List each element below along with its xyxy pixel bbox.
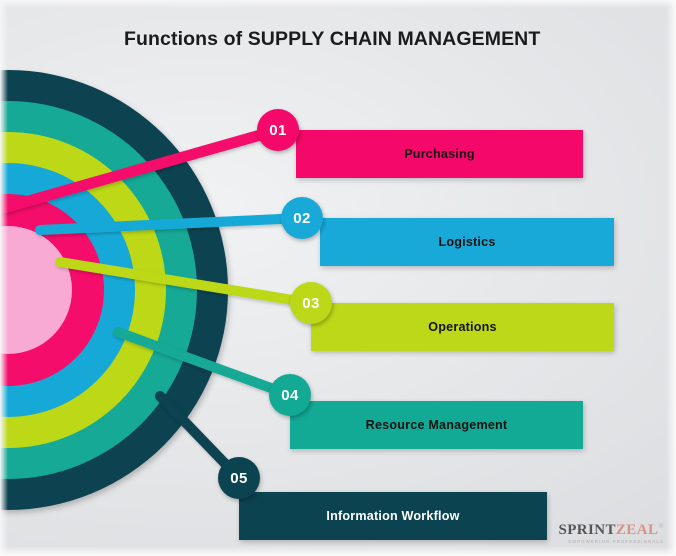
- bar-item-05[interactable]: Information Workflow: [239, 492, 547, 540]
- bar-label-02: Logistics: [438, 235, 495, 249]
- bar-label-01: Purchasing: [404, 147, 475, 161]
- bar-label-04: Resource Management: [366, 418, 508, 432]
- bar-item-03[interactable]: Operations: [311, 303, 614, 351]
- edge-highlight-right: [666, 0, 676, 556]
- badge-01[interactable]: 01: [257, 109, 299, 151]
- logo-tagline: EMPOWERING PROFESSIONALS: [558, 540, 664, 544]
- bar-label-03: Operations: [428, 320, 496, 334]
- connector-line-04: [118, 332, 290, 395]
- bar-item-04[interactable]: Resource Management: [290, 401, 583, 449]
- badge-number-04: 04: [281, 387, 299, 404]
- edge-highlight-top: [0, 0, 676, 8]
- brand-logo[interactable]: SPRINTZEAL® EMPOWERING PROFESSIONALS: [558, 523, 664, 544]
- logo-wordmark: SPRINTZEAL®: [558, 523, 664, 538]
- logo-word-zeal: ZEAL: [616, 522, 658, 538]
- connector-line-03: [60, 262, 311, 303]
- registered-mark-icon: ®: [658, 522, 664, 530]
- edge-highlight-left: [0, 0, 8, 556]
- badge-02[interactable]: 02: [281, 197, 323, 239]
- page-title: Functions of SUPPLY CHAIN MANAGEMENT: [124, 28, 540, 51]
- bar-item-01[interactable]: Purchasing: [296, 130, 583, 178]
- badge-05[interactable]: 05: [218, 457, 260, 499]
- connector-lines-group: [0, 0, 676, 556]
- connector-line-01: [4, 130, 278, 208]
- badge-number-02: 02: [293, 210, 311, 227]
- infographic-canvas: Functions of SUPPLY CHAIN MANAGEMENT Pur…: [0, 0, 676, 556]
- logo-word-sprint: SPRINT: [558, 522, 615, 538]
- bar-item-02[interactable]: Logistics: [320, 218, 614, 266]
- badge-number-01: 01: [269, 122, 287, 139]
- badge-number-03: 03: [302, 295, 320, 312]
- edge-highlight-bottom: [0, 546, 676, 556]
- badge-04[interactable]: 04: [269, 374, 311, 416]
- badge-number-05: 05: [230, 470, 248, 487]
- bar-label-05: Information Workflow: [326, 509, 459, 523]
- badge-03[interactable]: 03: [290, 282, 332, 324]
- connector-line-02: [40, 218, 302, 230]
